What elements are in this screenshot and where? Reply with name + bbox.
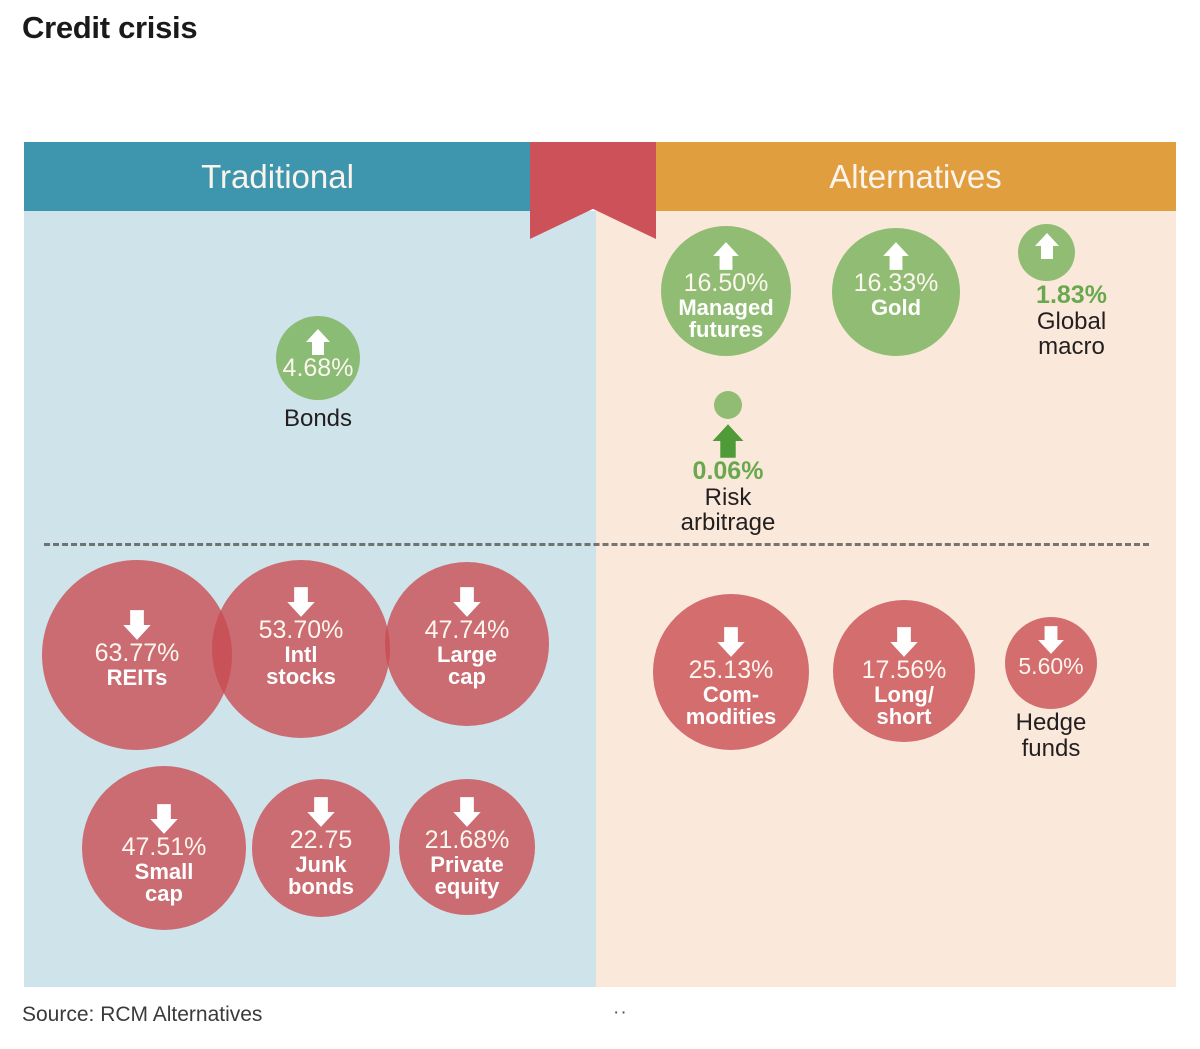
label-large-cap-line2: cap bbox=[417, 666, 517, 688]
label-small-cap-line2: cap bbox=[114, 883, 214, 905]
arrow-down-icon bbox=[452, 796, 482, 828]
label-global-macro-line2: macro bbox=[1009, 334, 1134, 360]
arrow-down-icon bbox=[1037, 625, 1065, 655]
arrow-down-icon bbox=[889, 626, 919, 658]
value-global-macro: 1.83% bbox=[1009, 283, 1134, 309]
label-risk-arbitrage-line1: Risk bbox=[665, 485, 791, 511]
arrow-down-icon bbox=[286, 586, 316, 618]
arrow-up-icon bbox=[882, 241, 910, 271]
value-commodities: 25.13% bbox=[681, 658, 781, 684]
value-junk-bonds: 22.75 bbox=[271, 828, 371, 854]
label-reits: REITs bbox=[87, 667, 187, 689]
gain-loss-divider bbox=[44, 543, 1149, 546]
label-risk-arbitrage-line2: arbitrage bbox=[665, 510, 791, 536]
label-long-short-line2: short bbox=[854, 706, 954, 728]
label-managed-futures-line1: Managed bbox=[676, 297, 776, 319]
label-global-macro-line1: Global bbox=[1009, 309, 1134, 335]
label-hedge-funds-line1: Hedge bbox=[988, 710, 1114, 736]
arrow-up-icon bbox=[711, 423, 745, 459]
value-intl-stocks: 53.70% bbox=[251, 618, 351, 644]
bubble-risk-arbitrage[interactable] bbox=[714, 391, 742, 419]
credit-crisis-bubble-chart: Traditional Alternatives '07-'09 4.68% B… bbox=[24, 142, 1176, 987]
value-hedge-funds: 5.60% bbox=[1001, 655, 1101, 678]
page-title: Credit crisis bbox=[22, 10, 197, 46]
arrow-down-icon bbox=[716, 626, 746, 658]
value-reits: 63.77% bbox=[87, 641, 187, 667]
label-commodities-line1: Com- bbox=[681, 684, 781, 706]
label-small-cap-line1: Small bbox=[114, 861, 214, 883]
label-commodities-line2: modities bbox=[681, 706, 781, 728]
value-large-cap: 47.74% bbox=[417, 618, 517, 644]
source-note: Source: RCM Alternatives bbox=[22, 1003, 262, 1027]
arrow-down-icon bbox=[452, 586, 482, 618]
label-junk-bonds-line2: bonds bbox=[271, 876, 371, 898]
label-intl-stocks-line2: stocks bbox=[251, 666, 351, 688]
arrow-down-icon bbox=[149, 803, 179, 835]
value-gold: 16.33% bbox=[846, 271, 946, 297]
arrow-up-icon bbox=[712, 241, 740, 271]
header-alternatives: Alternatives bbox=[655, 142, 1176, 211]
value-private-equity: 21.68% bbox=[417, 828, 517, 854]
value-long-short: 17.56% bbox=[854, 658, 954, 684]
arrow-down-icon bbox=[122, 609, 152, 641]
value-small-cap: 47.51% bbox=[114, 835, 214, 861]
label-private-equity-line2: equity bbox=[417, 876, 517, 898]
header-traditional: Traditional bbox=[24, 142, 531, 211]
label-junk-bonds-line1: Junk bbox=[271, 854, 371, 876]
arrow-down-icon bbox=[306, 796, 336, 828]
label-intl-stocks-line1: Intl bbox=[251, 644, 351, 666]
arrow-up-icon bbox=[1034, 232, 1060, 260]
value-bonds: 4.68% bbox=[268, 356, 368, 382]
value-managed-futures: 16.50% bbox=[676, 271, 776, 297]
label-hedge-funds-line2: funds bbox=[988, 736, 1114, 762]
label-managed-futures-line2: futures bbox=[676, 319, 776, 341]
footer-mark: ·· bbox=[613, 1002, 628, 1024]
label-gold: Gold bbox=[846, 297, 946, 319]
label-private-equity-line1: Private bbox=[417, 854, 517, 876]
value-risk-arbitrage: 0.06% bbox=[665, 459, 791, 485]
label-long-short-line1: Long/ bbox=[854, 684, 954, 706]
label-large-cap-line1: Large bbox=[417, 644, 517, 666]
arrow-up-icon bbox=[305, 328, 331, 356]
